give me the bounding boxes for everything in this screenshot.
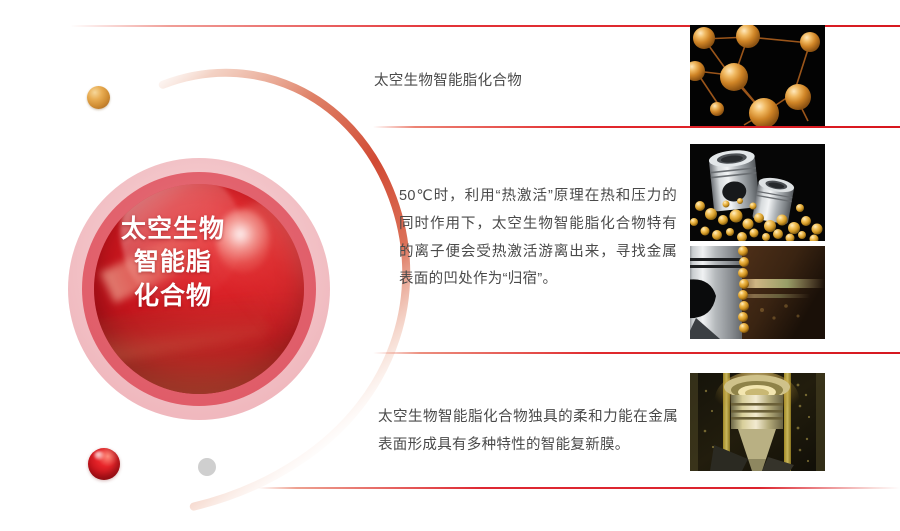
red-sphere-decoration xyxy=(88,448,120,480)
main-sphere: 太空生物 智能脂 化合物 xyxy=(68,158,330,420)
section-1-text: 太空生物智能脂化合物 xyxy=(374,68,674,96)
photo-piston-in-cylinder xyxy=(690,373,825,471)
section-3-text: 太空生物智能脂化合物独具的柔和力能在金属表面形成具有多种特性的智能复新膜。 xyxy=(378,404,678,460)
piston-cylinder-glow-image xyxy=(690,373,825,471)
photo-pistons-with-particles xyxy=(690,144,825,241)
sphere-label: 太空生物 智能脂 化合物 xyxy=(68,158,278,368)
gold-sphere-decoration xyxy=(87,86,110,109)
sphere-label-line-2: 智能脂 xyxy=(134,246,212,279)
molecular-structure-image xyxy=(690,25,825,126)
gray-dot-decoration xyxy=(198,458,216,476)
sphere-label-line-1: 太空生物 xyxy=(121,213,225,246)
photo-molecular-structure xyxy=(690,25,825,126)
piston-cross-section-image xyxy=(690,246,825,339)
slide-canvas: 太空生物 智能脂 化合物 太空生物智能脂化合物 50℃时，利用“热激活”原理在热… xyxy=(0,0,900,531)
text-column: 太空生物智能脂化合物 50℃时，利用“热激活”原理在热和压力的同时作用下，太空生… xyxy=(373,0,678,531)
engine-pistons-image xyxy=(690,144,825,241)
sphere-label-line-3: 化合物 xyxy=(134,280,212,313)
photo-piston-cross-section xyxy=(690,246,825,339)
section-2-text: 50℃时，利用“热激活”原理在热和压力的同时作用下，太空生物智能脂化合物特有的离… xyxy=(399,183,677,294)
